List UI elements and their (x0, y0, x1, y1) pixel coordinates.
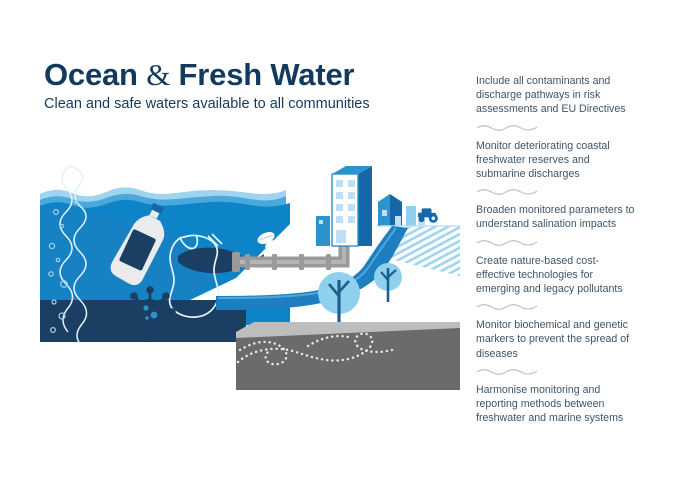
title-ampersand: & (146, 57, 170, 92)
wave-separator-icon (476, 301, 538, 311)
bullet-text: Harmonise monitoring and reporting metho… (476, 383, 636, 426)
bullet-text: Monitor deteriorating coastal freshwater… (476, 139, 636, 182)
list-item: Harmonise monitoring and reporting metho… (476, 383, 636, 426)
page-subtitle: Clean and safe waters available to all c… (44, 96, 370, 112)
virus-core (137, 299, 163, 325)
virus-particle (125, 287, 174, 336)
wave-separator-icon (476, 186, 538, 196)
far-building (395, 216, 401, 226)
tractor (418, 208, 438, 222)
bullet-text: Monitor biochemical and genetic markers … (476, 318, 636, 361)
list-item: Include all contaminants and discharge p… (476, 74, 636, 117)
list-item: Broaden monitored parameters to understa… (476, 203, 636, 231)
wave-separator-icon (476, 122, 538, 132)
list-item: Monitor biochemical and genetic markers … (476, 318, 636, 361)
list-item: Create nature-based cost-effective techn… (476, 254, 636, 297)
page-title: Ocean & Fresh Water (44, 57, 354, 93)
wave-separator-icon (476, 237, 538, 247)
wave-separator-icon (476, 366, 538, 376)
illustration (40, 150, 460, 390)
recommendations-list: Include all contaminants and discharge p… (476, 74, 636, 425)
tree (318, 272, 360, 326)
far-building (406, 206, 416, 226)
bullet-text: Broaden monitored parameters to understa… (476, 203, 636, 231)
tree (374, 263, 402, 302)
tower-side (358, 166, 372, 246)
pipe-outlet (232, 252, 240, 272)
title-part-2: Fresh Water (179, 57, 355, 92)
list-item: Monitor deteriorating coastal freshwater… (476, 139, 636, 182)
infographic-page: Ocean & Fresh Water Clean and safe water… (0, 0, 700, 483)
bullet-text: Include all contaminants and discharge p… (476, 74, 636, 117)
title-part-1: Ocean (44, 57, 138, 92)
bullet-text: Create nature-based cost-effective techn… (476, 254, 636, 297)
illustration-svg (40, 150, 460, 390)
